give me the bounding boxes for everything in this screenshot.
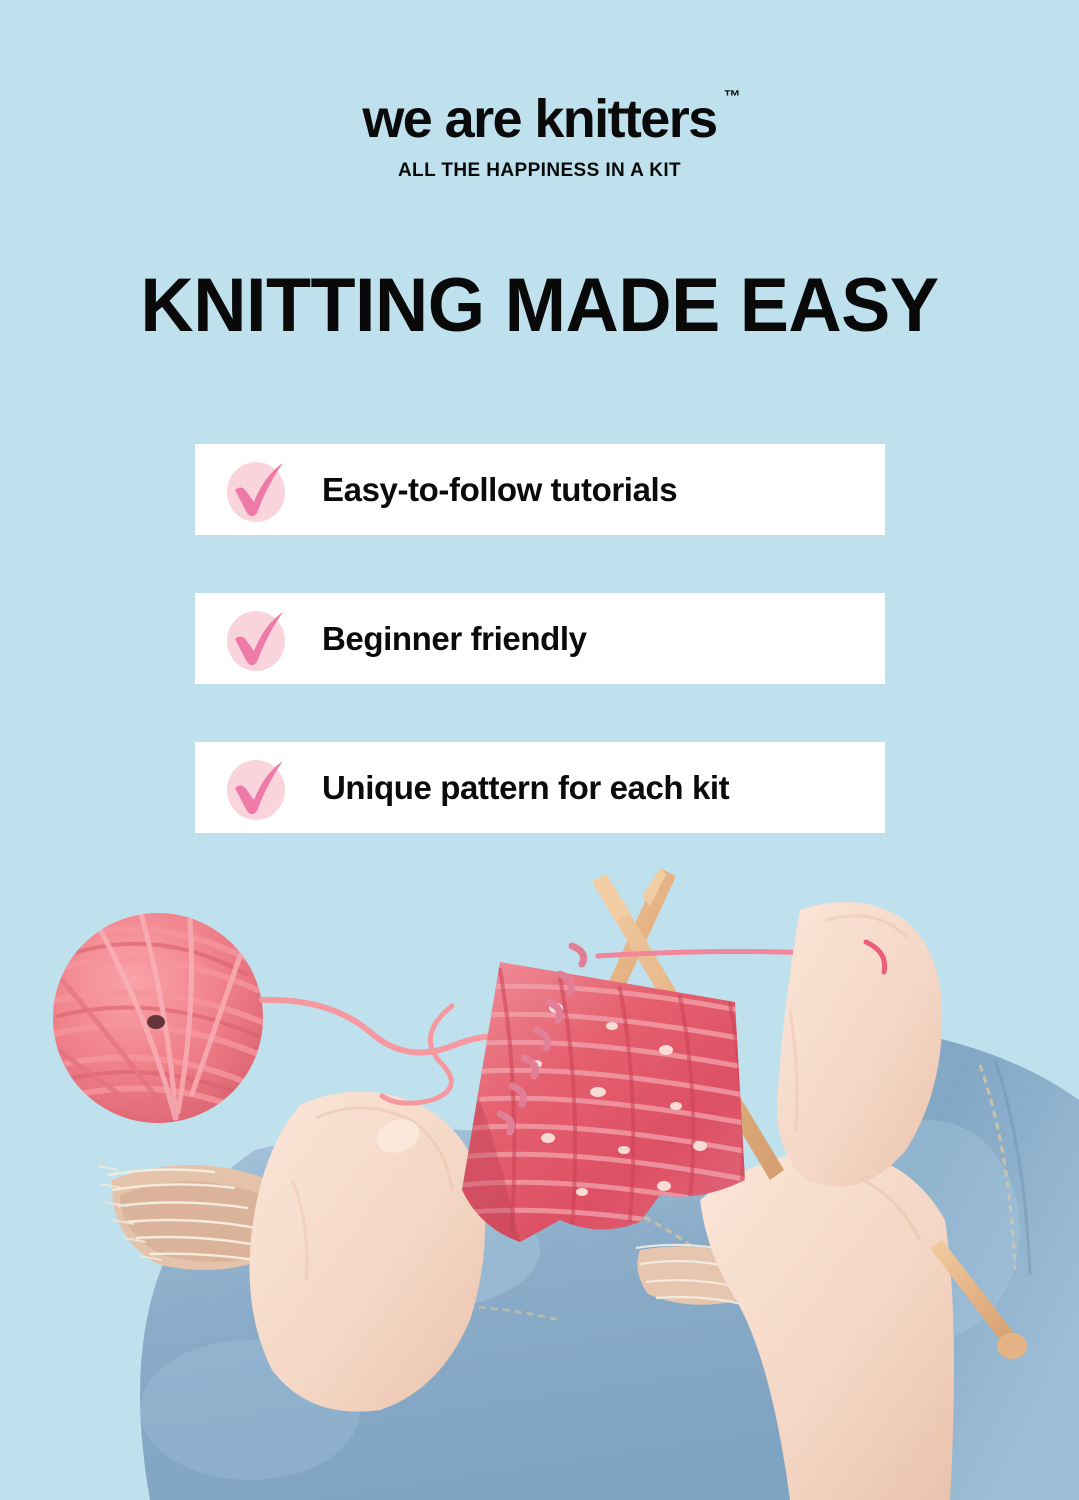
brand-wordmark-text: we are knitters <box>362 89 716 149</box>
trademark-symbol: ™ <box>724 88 741 105</box>
check-icon <box>223 456 291 524</box>
check-icon <box>223 605 291 673</box>
check-mark-glyph <box>223 605 291 673</box>
hero-photo <box>0 850 1079 1500</box>
feature-card: Unique pattern for each kit <box>195 742 885 833</box>
feature-label: Beginner friendly <box>322 620 587 658</box>
feature-card: Easy-to-follow tutorials <box>195 444 885 535</box>
poster-canvas: we are knitters ™ ALL THE HAPPINESS IN A… <box>0 0 1079 1500</box>
hero-photo-illustration <box>0 850 1079 1500</box>
brand-wordmark: we are knitters ™ <box>362 92 716 146</box>
feature-label: Easy-to-follow tutorials <box>322 471 677 509</box>
feature-list: Easy-to-follow tutorials Beginner friend… <box>195 444 885 891</box>
check-mark-glyph <box>223 456 291 524</box>
feature-label: Unique pattern for each kit <box>322 769 729 807</box>
page-title: KNITTING MADE EASY <box>16 268 1063 344</box>
brand-tagline: ALL THE HAPPINESS IN A KIT <box>0 160 1079 182</box>
brand-logo: we are knitters ™ ALL THE HAPPINESS IN A… <box>0 92 1079 182</box>
check-mark-glyph <box>223 754 291 822</box>
feature-card: Beginner friendly <box>195 593 885 684</box>
check-icon <box>223 754 291 822</box>
